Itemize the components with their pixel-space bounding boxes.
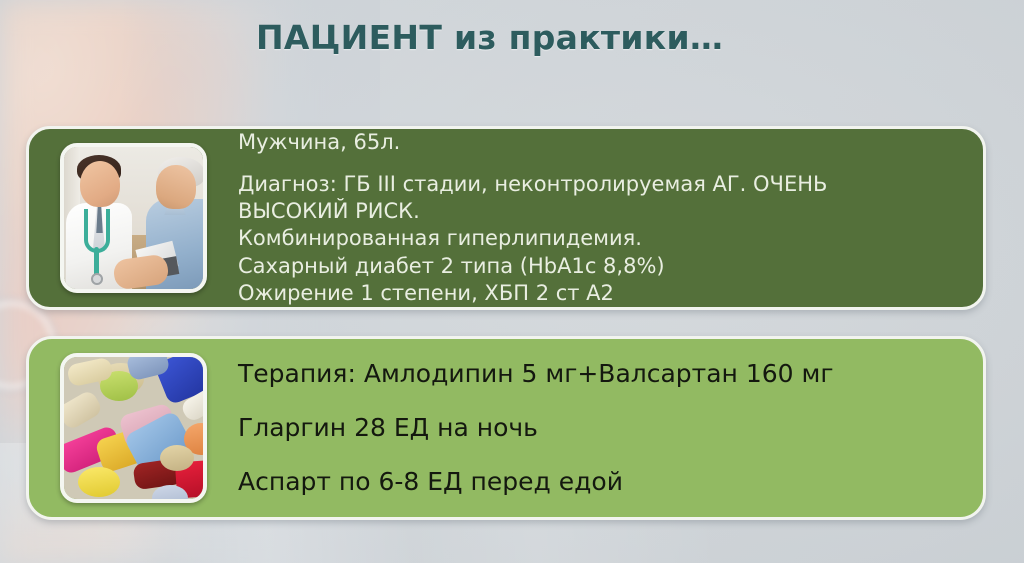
doctor-patient-photo	[60, 143, 207, 293]
diagnosis-line: Ожирение 1 степени, ХБП 2 ст А2	[238, 280, 961, 307]
therapy-line: Гларгин 28 ЕД на ночь	[238, 413, 961, 443]
pills-photo	[60, 353, 207, 503]
therapy-line: Аспарт по 6-8 ЕД перед едой	[238, 467, 961, 497]
diagnosis-line: Комбинированная гиперлипидемия.	[238, 225, 961, 252]
therapy-card: Терапия: Амлодипин 5 мг+Валсартан 160 мг…	[26, 336, 986, 520]
diagnosis-line: Сахарный диабет 2 типа (HbA1c 8,8%)	[238, 253, 961, 280]
therapy-line: Терапия: Амлодипин 5 мг+Валсартан 160 мг	[238, 359, 961, 389]
page-title: ПАЦИЕНТ из практики…	[256, 18, 723, 57]
diagnosis-card: Мужчина, 65л. Диагноз: ГБ III стадии, не…	[26, 126, 986, 310]
slide-root: ПАЦИЕНТ из практики…	[0, 0, 1024, 563]
therapy-text-block: Терапия: Амлодипин 5 мг+Валсартан 160 мг…	[207, 359, 983, 497]
diagnosis-line: ВЫСОКИЙ РИСК.	[238, 198, 961, 225]
patient-summary: Мужчина, 65л.	[238, 129, 961, 155]
diagnosis-text-block: Мужчина, 65л. Диагноз: ГБ III стадии, не…	[207, 129, 983, 308]
diagnosis-line: Диагноз: ГБ III стадии, неконтролируемая…	[238, 171, 961, 198]
